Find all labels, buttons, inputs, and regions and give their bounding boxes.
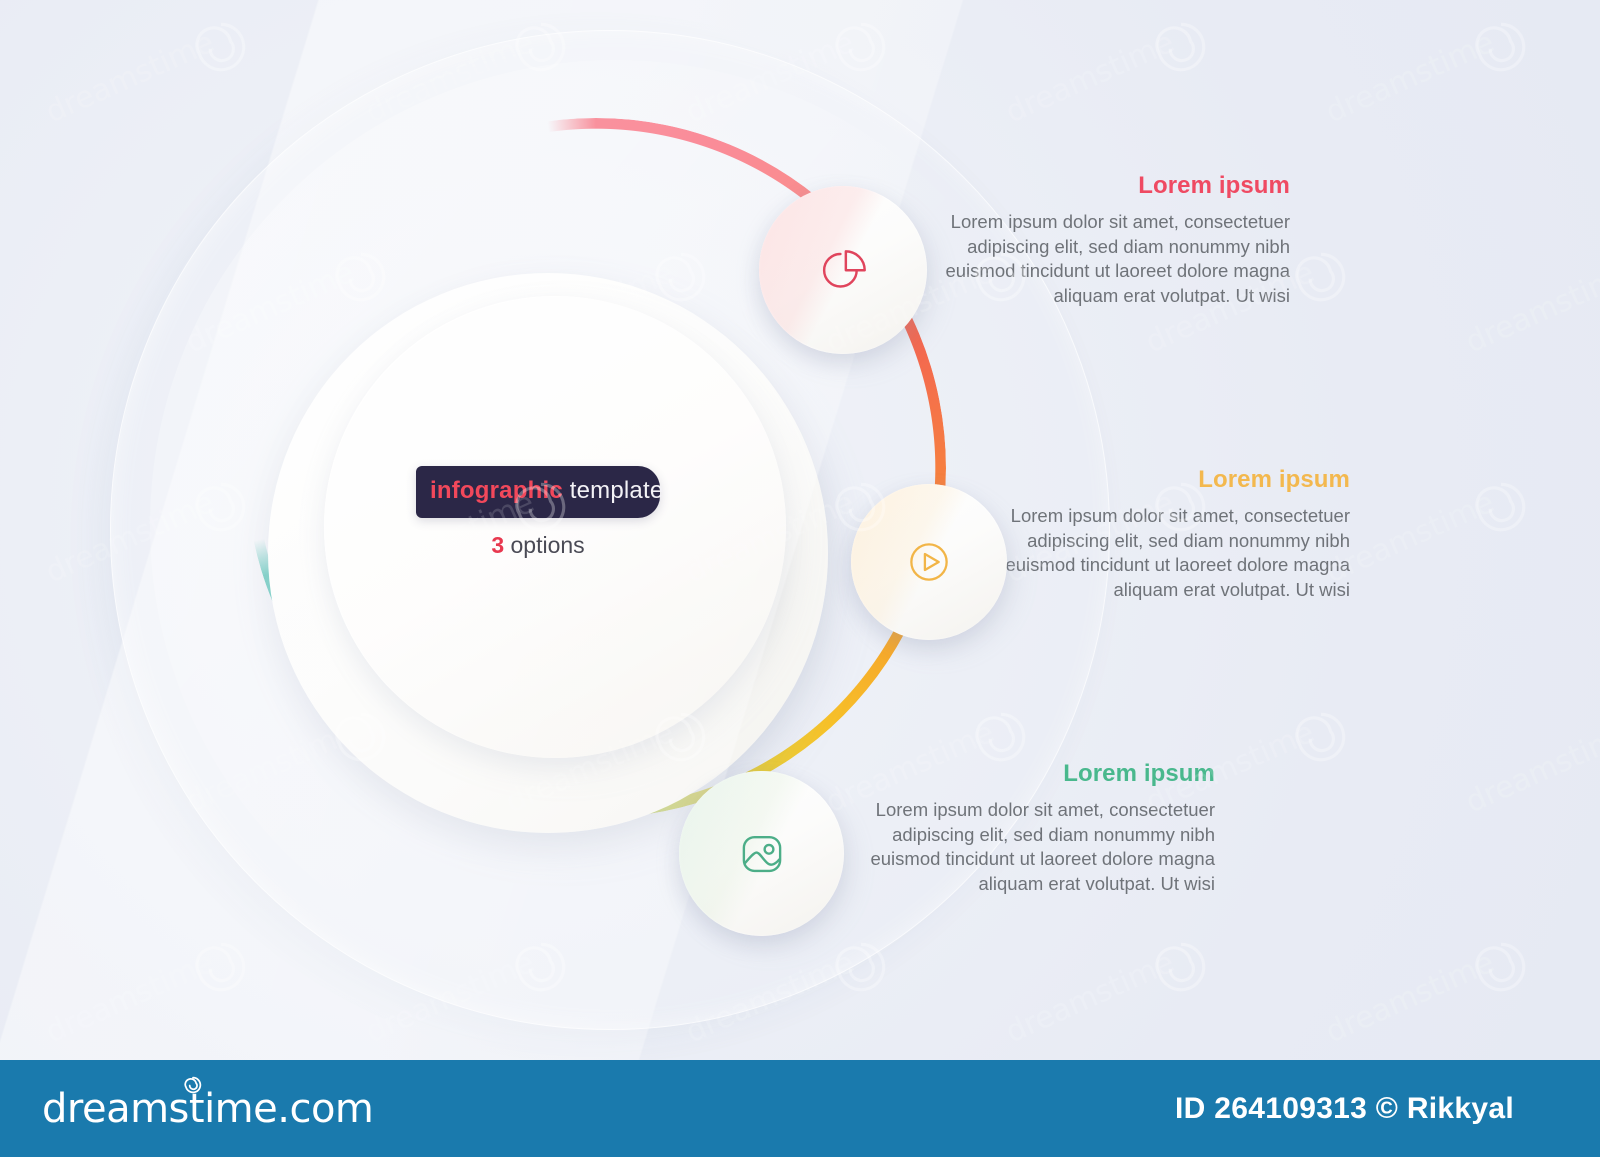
watermark-spiral [190, 936, 252, 998]
dreamstime-logo: dreamstime.com [42, 1086, 373, 1132]
option-badge-1[interactable] [759, 186, 927, 354]
watermark-text: dreamstime [1001, 945, 1180, 1050]
watermark-spiral [1150, 936, 1212, 998]
infographic-title-pill: infographic template [416, 466, 660, 518]
option-text-block-1: Lorem ipsum Lorem ipsum dolor sit amet, … [930, 172, 1290, 308]
watermark-text: dreamstime [1321, 25, 1500, 130]
watermark-text: dreamstime [1001, 25, 1180, 130]
image-photo-icon [732, 824, 792, 884]
watermark-text: dreamstime [1461, 715, 1600, 820]
stock-footer-bar: dreamstime.com ID 264109313 © Rikkyal [0, 1060, 1600, 1157]
watermark-spiral [1470, 936, 1532, 998]
spiral-icon [182, 1074, 204, 1096]
image-id-copyright: ID 264109313 © Rikkyal [1175, 1092, 1566, 1126]
pill-rest-word: template [563, 477, 664, 504]
infographic-canvas: infographic template 3 options Lorem ips… [0, 0, 1600, 1060]
center-label-group: infographic template 3 options [416, 466, 660, 559]
play-circle-icon [900, 533, 958, 591]
option-3-title: Lorem ipsum [855, 760, 1215, 788]
option-2-body: Lorem ipsum dolor sit amet, consectetuer… [990, 504, 1350, 602]
pill-highlight-word: infographic [430, 477, 563, 504]
watermark-spiral [190, 16, 252, 78]
watermark-spiral [830, 16, 892, 78]
option-3-body: Lorem ipsum dolor sit amet, consectetuer… [855, 798, 1215, 896]
pie-chart-icon [812, 239, 874, 301]
options-count-line: 3 options [416, 532, 660, 559]
option-1-title: Lorem ipsum [930, 172, 1290, 200]
option-1-body: Lorem ipsum dolor sit amet, consectetuer… [930, 210, 1290, 308]
option-2-title: Lorem ipsum [990, 466, 1350, 494]
option-badge-3[interactable] [679, 771, 844, 936]
options-number: 3 [491, 532, 504, 558]
options-word: options [504, 532, 585, 558]
option-text-block-2: Lorem ipsum Lorem ipsum dolor sit amet, … [990, 466, 1350, 602]
watermark-spiral [1150, 16, 1212, 78]
watermark-text: dreamstime [41, 25, 220, 130]
watermark-spiral [1470, 476, 1532, 538]
option-badge-2[interactable] [851, 484, 1007, 640]
watermark-spiral [1470, 16, 1532, 78]
watermark-text: dreamstime [41, 945, 220, 1050]
option-text-block-3: Lorem ipsum Lorem ipsum dolor sit amet, … [855, 760, 1215, 896]
watermark-text: dreamstime [1461, 255, 1600, 360]
watermark-spiral [1290, 706, 1352, 768]
watermark-text: dreamstime [1321, 945, 1500, 1050]
watermark-spiral [1290, 246, 1352, 308]
dreamstime-logo-text: dreamstime.com [42, 1086, 373, 1132]
